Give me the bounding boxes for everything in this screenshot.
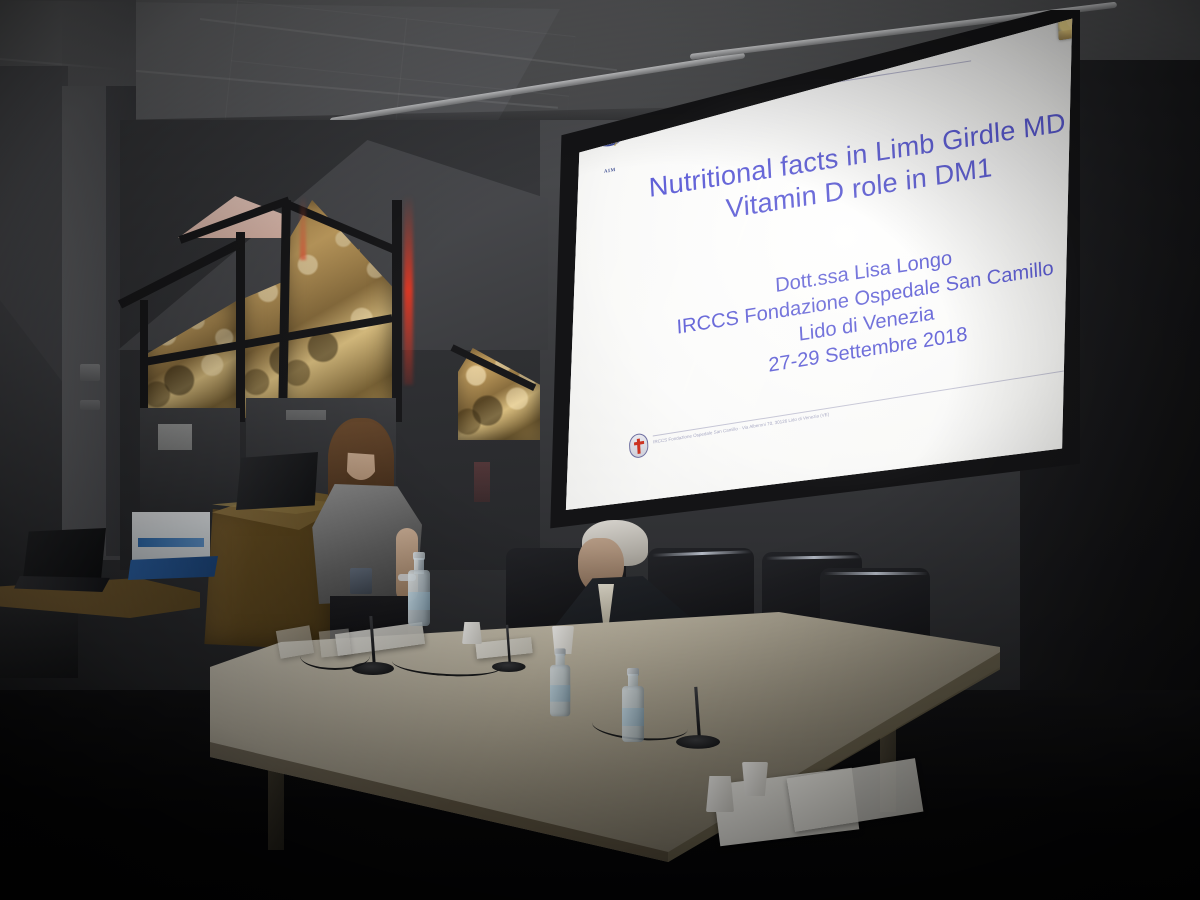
track-light <box>394 96 409 123</box>
bottle-label <box>622 708 644 726</box>
mic-base <box>676 735 720 749</box>
plastic-cup <box>706 776 734 812</box>
name-card <box>276 625 314 658</box>
plastic-cup <box>742 762 768 796</box>
projection-screen: S ⁄ AIM ASSOCIAZIONE ITALIANA DI MIOLOGI… <box>520 10 1080 550</box>
wall-socket <box>80 400 100 410</box>
wall-socket <box>80 364 100 381</box>
wall-notice <box>158 424 192 450</box>
conference-room: S ⁄ AIM ASSOCIAZIONE ITALIANA DI MIOLOGI… <box>0 0 1200 900</box>
blue-equipment-box <box>128 556 218 580</box>
window-mullion <box>236 232 245 422</box>
track-light <box>252 60 261 76</box>
laptop-on-podium <box>236 452 318 510</box>
red-cross-icon <box>629 432 649 459</box>
wall-notice <box>474 462 490 502</box>
track-light <box>444 18 453 34</box>
bottle-label <box>408 592 430 610</box>
chair-highlight <box>824 572 928 575</box>
window-mullion <box>392 200 402 422</box>
bottle-label <box>550 685 570 702</box>
screenshot-root: S ⁄ AIM ASSOCIAZIONE ITALIANA DI MIOLOGI… <box>0 0 1200 900</box>
red-edge-light <box>300 196 306 260</box>
plastic-cup <box>462 622 482 644</box>
presenter-at-podium <box>310 418 422 648</box>
name-card <box>319 629 352 658</box>
presenter-badge <box>350 568 372 594</box>
sign-bar <box>138 538 204 547</box>
track-light <box>497 80 511 107</box>
pillar-face <box>62 86 108 556</box>
red-edge-light <box>404 195 413 385</box>
